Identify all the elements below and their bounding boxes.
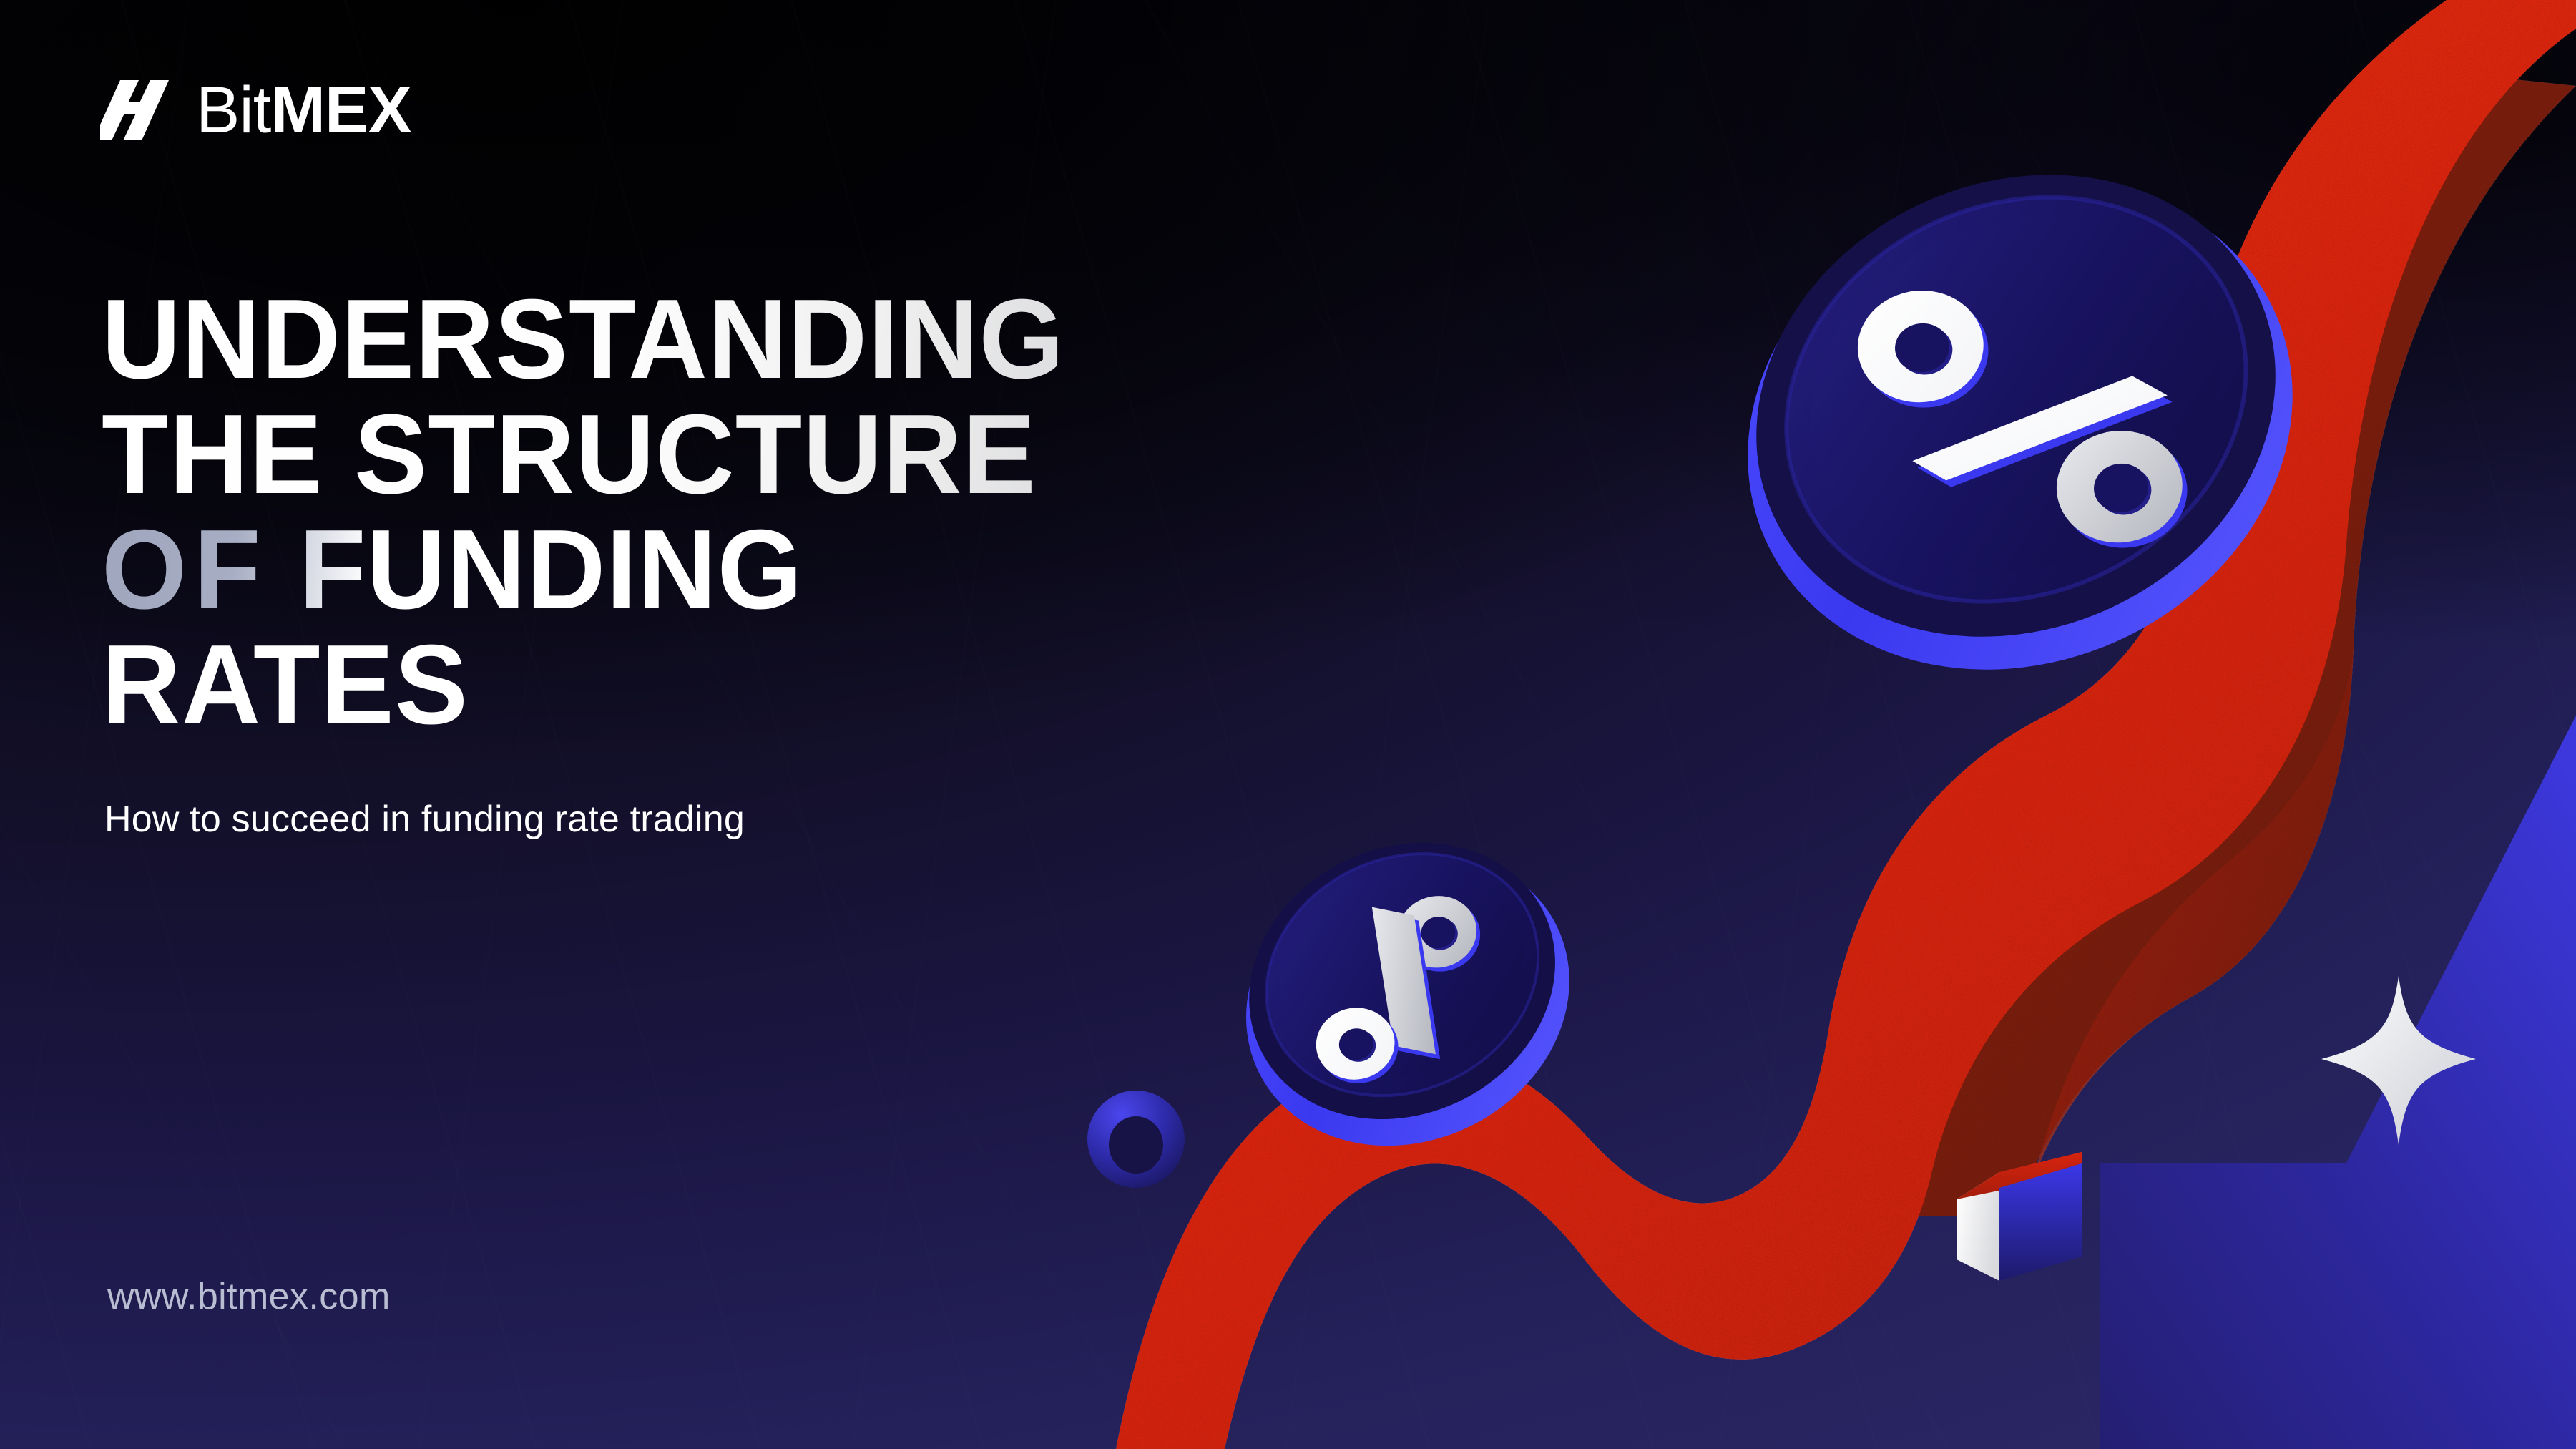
logo-text-bold: MEX [270,74,411,147]
title-line-3-funding: FUNDING [299,507,803,633]
bitmex-slash-mark-icon [100,80,177,140]
title-line-3: OF FUNDING [102,512,1615,628]
title-line-1: UNDERSTANDING [102,282,1615,397]
title-line-3-of: OF [102,507,268,633]
percent-coin-small [1192,790,1619,1199]
title-line-2: THE STRUCTURE [102,397,1615,512]
website-url: www.bitmex.com [107,1275,391,1318]
page-subtitle: How to succeed in funding rate trading [104,798,745,841]
four-point-sparkle [2321,976,2476,1145]
3d-cube [1957,1152,2082,1281]
percent-coin-large [1666,90,2371,755]
bitmex-wordmark: BitMEX [196,81,411,140]
bitmex-logo[interactable]: BitMEX [100,80,411,140]
blue-diagonal-band [2100,716,2576,1449]
bitmex-funding-rates-banner: BitMEX UNDERSTANDING THE STRUCTURE OF FU… [0,0,2576,1449]
blue-torus-ring [1087,1091,1185,1188]
logo-text-light: Bit [196,74,270,147]
page-title: UNDERSTANDING THE STRUCTURE OF FUNDING R… [102,282,1661,743]
title-line-4: RATES [102,628,1615,743]
